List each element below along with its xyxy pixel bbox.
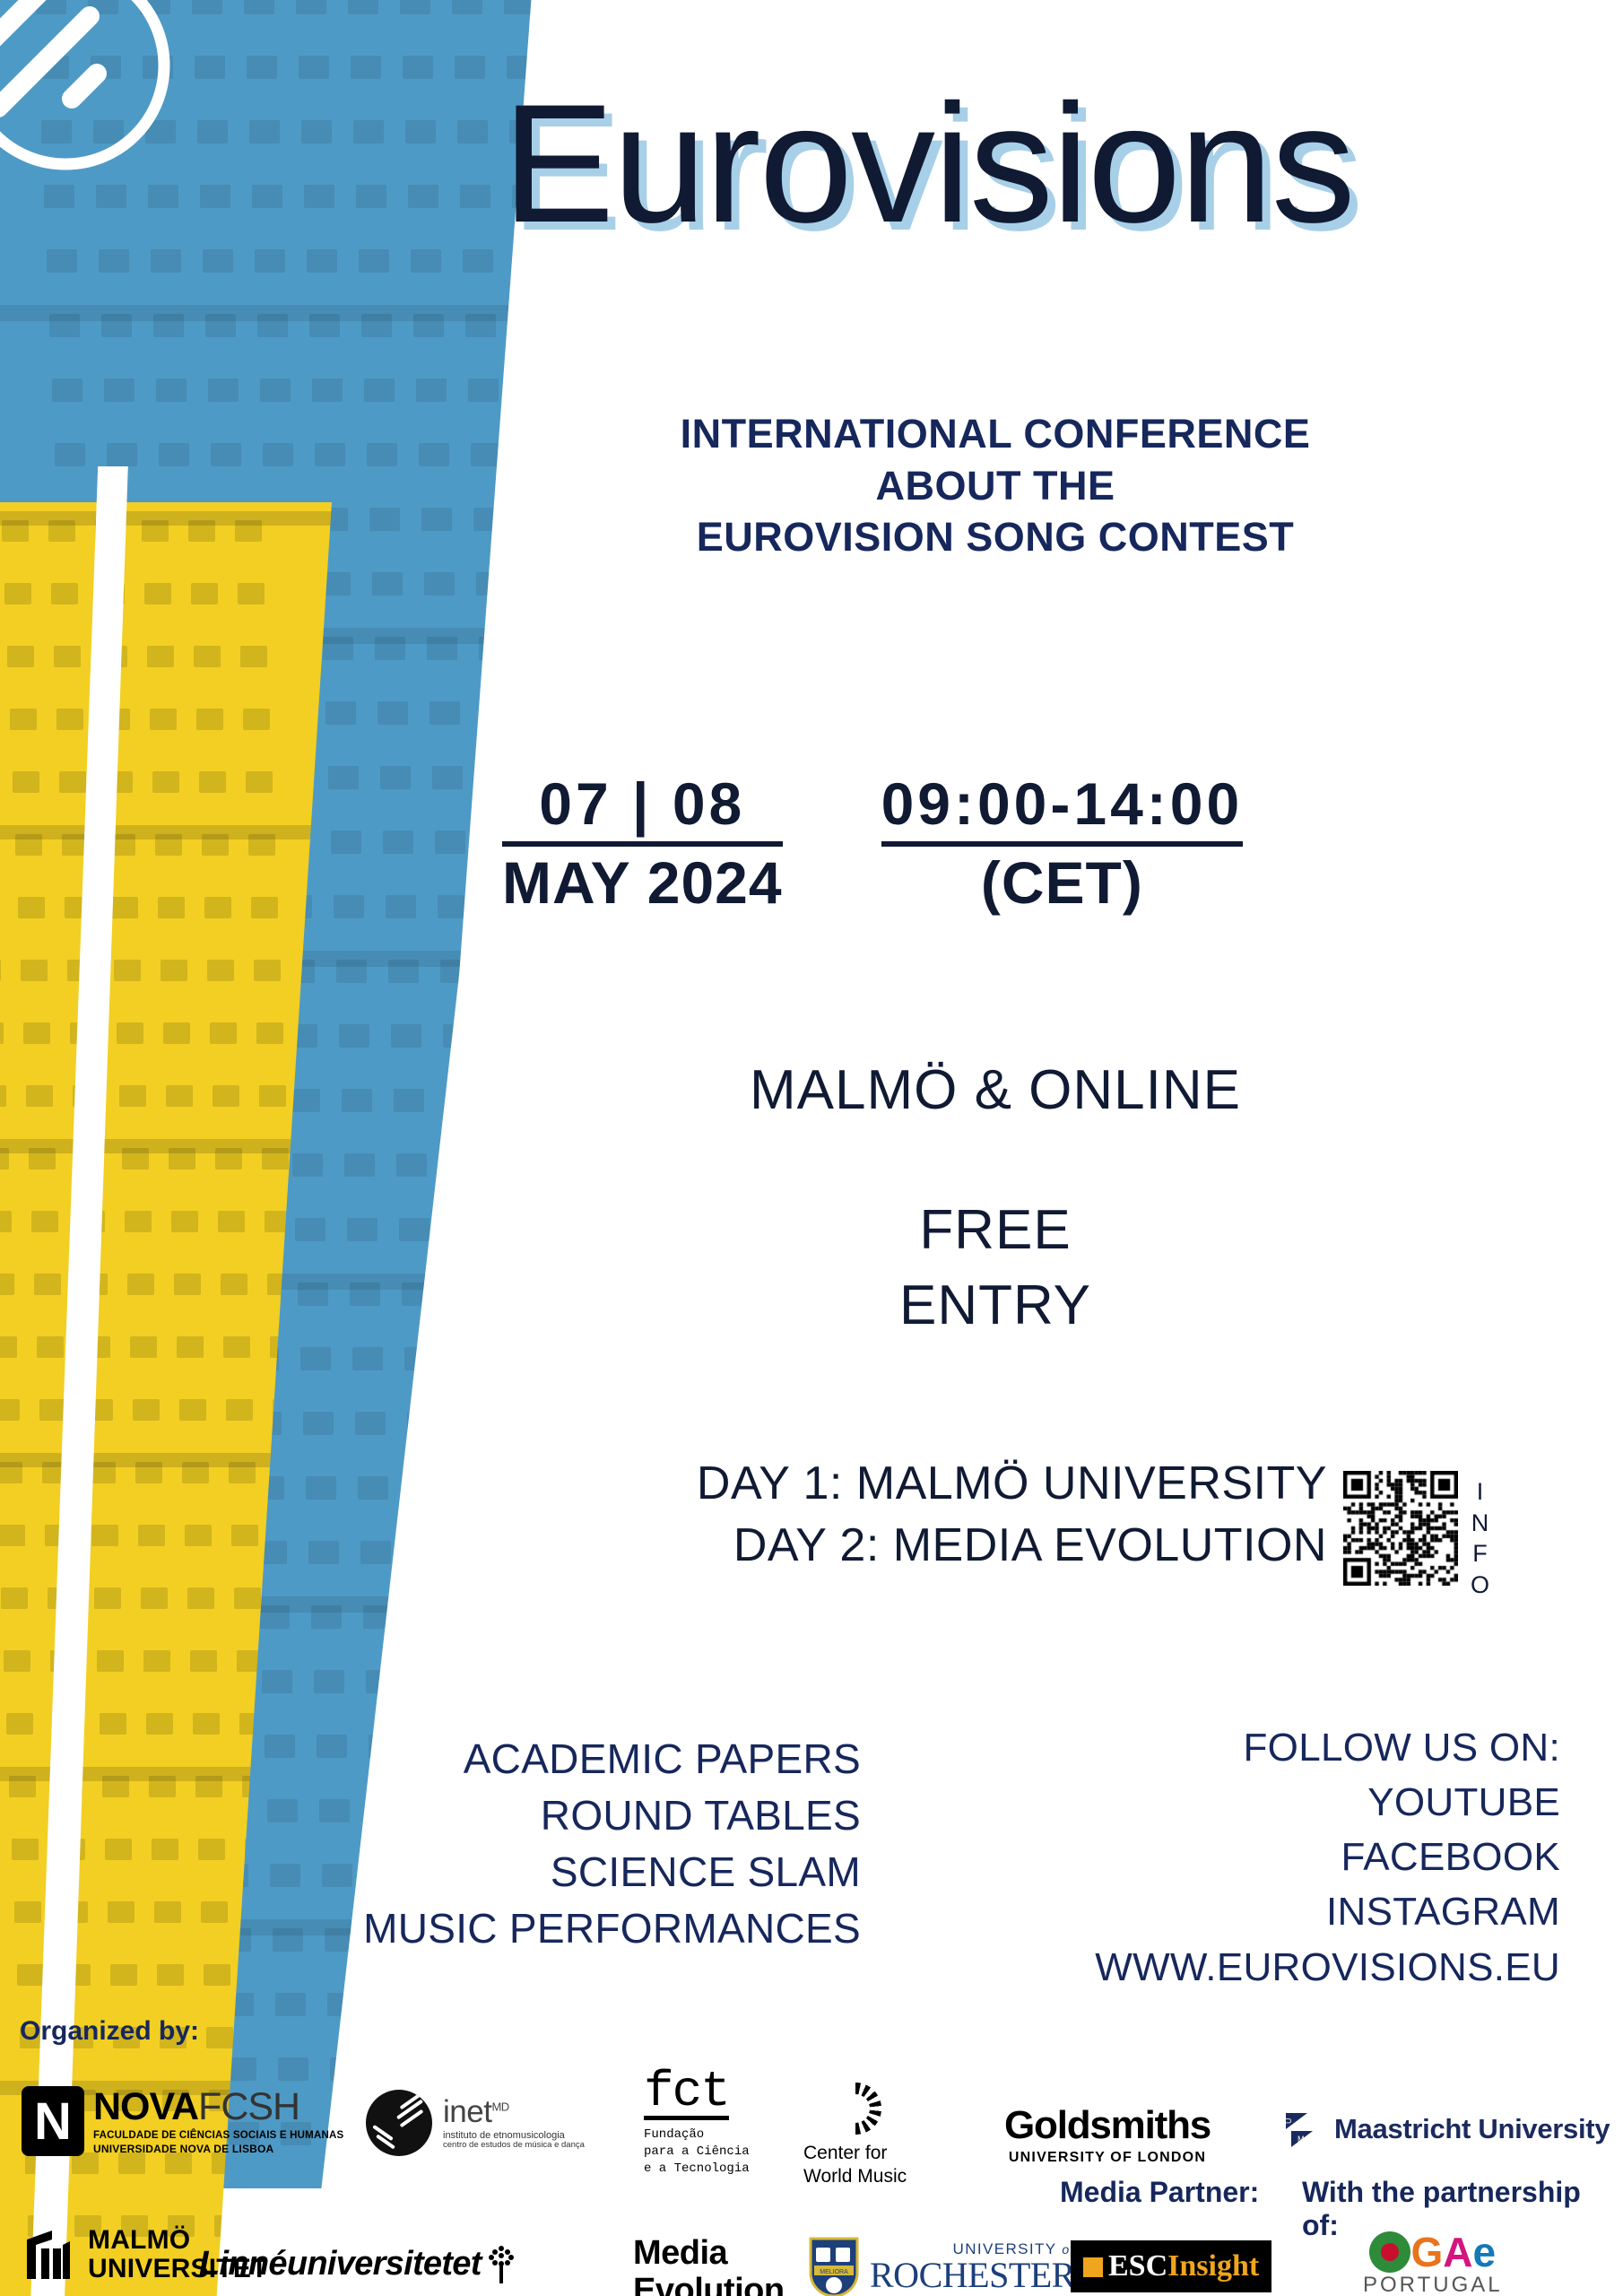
info-vertical-label: I N F O <box>1471 1471 1490 1600</box>
rochester-line-2: ROCHESTER <box>870 2258 1075 2292</box>
info-letter-n: N <box>1471 1508 1490 1539</box>
logo-linneuniversitetet[interactable]: Linnéuniversitetet <box>199 2244 516 2283</box>
fct-mark-icon: fct <box>644 2072 729 2120</box>
inet-line-2: centro de estudos de música e dança <box>443 2141 585 2150</box>
time-zone: (CET) <box>881 848 1244 918</box>
goldsmiths-sub: UNIVERSITY OF LONDON <box>1009 2150 1206 2166</box>
follow-heading: FOLLOW US ON: <box>915 1720 1560 1775</box>
maastricht-mark-icon: U M <box>1284 2109 1324 2149</box>
logo-media-evolution[interactable]: Media Evolution <box>633 2235 785 2296</box>
date-time-block: 07 | 08 MAY 2024 09:00-14:00 (CET) <box>502 771 1560 918</box>
ogae-sub: PORTUGAL <box>1363 2273 1503 2296</box>
linne-tree-icon <box>487 2244 516 2283</box>
date-rule <box>502 841 783 847</box>
logo-nova-fcsh[interactable]: NOVAFCSH FACULDADE DE CIÊNCIAS SOCIAIS E… <box>22 2086 343 2156</box>
fct-line-3: e a Tecnologia <box>644 2161 750 2178</box>
poster-content: Eurovisions INTERNATIONAL CONFERENCE ABO… <box>0 0 1623 2296</box>
time-rule <box>881 841 1244 847</box>
follow-us-block: FOLLOW US ON: YOUTUBE FACEBOOK INSTAGRAM… <box>915 1720 1560 1995</box>
nova-name-light: FCSH <box>198 2085 299 2128</box>
world-music-mark-icon <box>829 2083 881 2135</box>
logo-escinsight[interactable]: ESCInsight <box>1071 2240 1271 2292</box>
social-instagram[interactable]: INSTAGRAM <box>915 1884 1560 1939</box>
escinsight-white: ESC <box>1108 2249 1167 2283</box>
media-partner-label: Media Partner: <box>1060 2176 1259 2209</box>
fct-line-2: para a Ciência <box>644 2144 750 2161</box>
logo-goldsmiths[interactable]: Goldsmiths UNIVERSITY OF LONDON <box>1004 2106 1211 2166</box>
qr-info-group[interactable]: I N F O <box>1343 1471 1490 1600</box>
logo-maastricht-university[interactable]: U M Maastricht University <box>1284 2109 1610 2149</box>
ogae-letter-g: G <box>1410 2231 1443 2273</box>
nova-name-bold: NOVA <box>93 2085 198 2128</box>
ogae-portugal-flag-icon <box>1369 2231 1410 2273</box>
rochester-motto: MELIORA <box>820 2269 848 2275</box>
qr-code-icon[interactable] <box>1343 1471 1458 1586</box>
day-venues-block: DAY 1: MALMÖ UNIVERSITY DAY 2: MEDIA EVO… <box>430 1453 1327 1577</box>
page-title: Eurovisions <box>502 79 1578 248</box>
entry-line-2: ENTRY <box>466 1268 1524 1344</box>
logo-center-world-music[interactable]: Center for World Music <box>803 2083 907 2189</box>
nova-mark-icon <box>22 2086 84 2156</box>
entry-block: FREE ENTRY <box>466 1193 1524 1343</box>
svg-text:M: M <box>1298 2135 1305 2144</box>
escinsight-orange: Insight <box>1167 2249 1259 2283</box>
ogae-letter-e: e <box>1473 2231 1497 2273</box>
time-hours: 09:00-14:00 <box>881 771 1244 838</box>
linne-name: Linnéuniversitetet <box>199 2245 482 2283</box>
escinsight-dot-icon <box>1083 2257 1103 2277</box>
list-item: ACADEMIC PAPERS <box>197 1731 861 1787</box>
footer-logos: Organized by: Media Partner: With the pa… <box>0 2000 1623 2296</box>
cwm-line-1: Center for <box>803 2142 907 2165</box>
logo-inet-md[interactable]: inetMD instituto de etnomusicologia cent… <box>366 2090 585 2156</box>
inet-mark-icon <box>366 2090 432 2156</box>
poster-root: Eurovisions INTERNATIONAL CONFERENCE ABO… <box>0 0 1623 2296</box>
svg-text:U: U <box>1284 2118 1293 2125</box>
location-text: MALMÖ & ONLINE <box>466 1058 1524 1122</box>
media-evolution-line-2: Evolution <box>633 2273 785 2296</box>
info-letter-f: F <box>1472 1538 1488 1570</box>
goldsmiths-name: Goldsmiths <box>1004 2106 1211 2145</box>
info-letter-i: I <box>1477 1476 1485 1508</box>
list-item: SCIENCE SLAM <box>197 1844 861 1900</box>
list-item: ROUND TABLES <box>197 1787 861 1844</box>
date-block: 07 | 08 MAY 2024 <box>502 771 783 918</box>
subtitle-line-2: ABOUT THE <box>466 460 1524 512</box>
activities-list: ACADEMIC PAPERS ROUND TABLES SCIENCE SLA… <box>197 1731 861 1957</box>
ogae-letter-a: A <box>1443 2231 1472 2273</box>
day-venue-2: DAY 2: MEDIA EVOLUTION <box>430 1515 1327 1577</box>
time-block: 09:00-14:00 (CET) <box>881 771 1244 918</box>
social-facebook[interactable]: FACEBOOK <box>915 1830 1560 1884</box>
social-youtube[interactable]: YOUTUBE <box>915 1775 1560 1830</box>
media-evolution-line-1: Media <box>633 2235 785 2273</box>
subtitle-line-1: INTERNATIONAL CONFERENCE <box>466 408 1524 460</box>
inet-sup: MD <box>491 2100 508 2114</box>
inet-name: inet <box>443 2094 491 2129</box>
day-venue-1: DAY 1: MALMÖ UNIVERSITY <box>430 1453 1327 1515</box>
entry-line-1: FREE <box>466 1193 1524 1268</box>
logo-ogae-portugal[interactable]: G A e PORTUGAL <box>1363 2231 1503 2296</box>
organized-by-label: Organized by: <box>20 2016 199 2047</box>
maastricht-name: Maastricht University <box>1334 2113 1610 2145</box>
date-month-year: MAY 2024 <box>502 848 783 918</box>
nova-line-2: UNIVERSIDADE NOVA DE LISBOA <box>93 2144 343 2154</box>
date-days: 07 | 08 <box>502 771 783 838</box>
logo-university-of-rochester[interactable]: MELIORA UNIVERSITY of ROCHESTER <box>807 2235 1075 2296</box>
subtitle-line-3: EUROVISION SONG CONTEST <box>466 511 1524 563</box>
list-item: MUSIC PERFORMANCES <box>197 1900 861 1957</box>
nova-line-1: FACULDADE DE CIÊNCIAS SOCIAIS E HUMANAS <box>93 2131 343 2142</box>
logo-fct[interactable]: fct Fundação para a Ciência e a Tecnolog… <box>644 2072 750 2177</box>
cwm-line-2: World Music <box>803 2165 907 2188</box>
rochester-crest-icon: MELIORA <box>807 2235 861 2296</box>
subtitle-block: INTERNATIONAL CONFERENCE ABOUT THE EUROV… <box>466 408 1524 563</box>
malmo-mark-icon <box>22 2227 77 2283</box>
fct-line-1: Fundação <box>644 2126 750 2144</box>
info-letter-o: O <box>1471 1570 1490 1601</box>
website-url[interactable]: WWW.EUROVISIONS.EU <box>915 1940 1560 1995</box>
